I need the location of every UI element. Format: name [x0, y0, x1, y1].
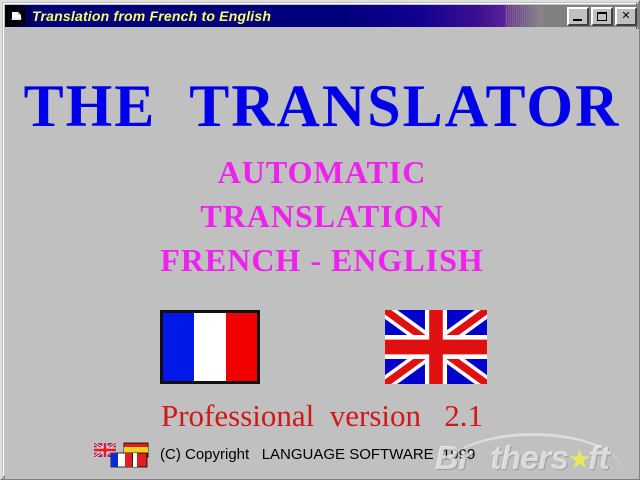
french-flag [160, 310, 260, 384]
close-icon: ✕ [617, 9, 635, 24]
document-icon[interactable] [9, 8, 25, 24]
footer-bar: (C) Copyright LANGUAGE SOFTWARE 1999 [5, 439, 639, 469]
maximize-icon [597, 12, 607, 21]
mini-french-flag [111, 453, 132, 467]
close-button[interactable]: ✕ [615, 7, 637, 26]
window-controls: ✕ [567, 7, 637, 26]
subhead-line-3: FRENCH - ENGLISH [5, 238, 639, 282]
product-subheading: AUTOMATIC TRANSLATION FRENCH - ENGLISH [5, 150, 639, 282]
mini-flag-cluster [93, 441, 151, 469]
minimize-icon [573, 19, 582, 21]
copyright-line: (C) Copyright LANGUAGE SOFTWARE 1999 [160, 446, 475, 463]
subhead-line-2: TRANSLATION [5, 194, 639, 238]
titlebar[interactable]: Translation from French to English ✕ [5, 5, 639, 27]
window-title: Translation from French to English [32, 8, 271, 24]
french-flag-blue-band [163, 313, 194, 381]
screenshot-root: Translation from French to English ✕ THE… [0, 0, 640, 480]
subhead-line-1: AUTOMATIC [5, 150, 639, 194]
version-line: Professional version 2.1 [5, 399, 639, 433]
titlebar-dither-edge [505, 5, 543, 27]
uk-flag [385, 310, 487, 384]
french-flag-white-band [194, 313, 225, 381]
mini-red-white-flag [133, 453, 147, 467]
product-headline: THE TRANSLATOR [5, 76, 639, 136]
application-window: Translation from French to English ✕ THE… [0, 0, 640, 480]
french-flag-red-band [226, 313, 257, 381]
maximize-button[interactable] [591, 7, 613, 26]
minimize-button[interactable] [567, 7, 589, 26]
splash-client-area: THE TRANSLATOR AUTOMATIC TRANSLATION FRE… [5, 29, 639, 479]
